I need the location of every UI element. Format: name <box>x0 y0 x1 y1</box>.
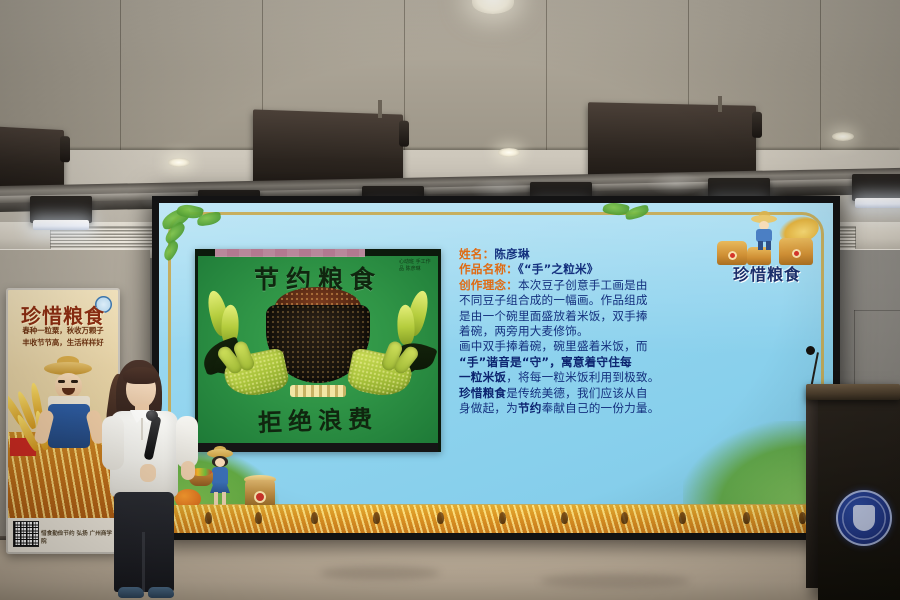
shoe <box>118 587 144 598</box>
hair-fringe <box>123 367 159 384</box>
lecture-hall-scene: 珍惜粮食 节约粮食 心动班 手工作品 陈彦琳 <box>0 0 900 600</box>
concept-line-9a: 身做起，为 <box>459 401 518 415</box>
concept-line-9c: 奉献自己的一份力量。 <box>542 401 660 415</box>
led-presentation-screen[interactable]: 珍惜粮食 节约粮食 心动班 手工作品 陈彦琳 <box>152 196 840 540</box>
concept-row: 创作理念：本次豆子创意手工画是由 <box>459 278 721 293</box>
concept-line-2: 不同豆子组合成的一幅画。作品组成 <box>459 293 721 308</box>
banner-headline: 珍惜粮食 <box>8 300 118 329</box>
concept-line-9-bold: 节约 <box>518 401 542 415</box>
leaf-decoration-icon <box>603 203 693 237</box>
farmer-icon <box>751 213 781 249</box>
hand <box>181 461 195 480</box>
work-value: 《“手”之粒米》 <box>518 262 599 276</box>
slide-logo: 珍惜粮食 <box>715 213 819 285</box>
work-row: 作品名称：《“手”之粒米》 <box>459 262 721 277</box>
name-value: 陈彦琳 <box>494 247 529 261</box>
recessed-downlight <box>168 158 190 167</box>
presenter <box>96 356 202 600</box>
cartoon-girl-farmer-icon <box>203 449 237 509</box>
microphone-capsule <box>806 346 815 355</box>
slide-content: 珍惜粮食 节约粮食 心动班 手工作品 陈彦琳 <box>159 203 833 533</box>
banner-subline-2: 丰收节节高，生活样样好 <box>12 338 114 348</box>
concept-line-6: “手”谐音是“守”，寓意着守住每 <box>459 355 721 370</box>
concept-label: 创作理念： <box>459 278 518 292</box>
slide-logo-text: 珍惜粮食 <box>715 261 819 285</box>
recessed-downlight <box>832 132 854 141</box>
concept-line-1: 本次豆子创意手工画是由 <box>518 278 648 292</box>
artwork-photo: 节约粮食 心动班 手工作品 陈彦琳 <box>195 249 441 452</box>
recessed-downlight <box>498 148 520 157</box>
shoe <box>148 587 174 598</box>
concept-line-9: 身做起，为节约奉献自己的一份力量。 <box>459 401 721 416</box>
qr-code-icon[interactable] <box>13 521 39 547</box>
concept-line-8-rest: 是传统美德，我们应该从自 <box>506 386 648 400</box>
concept-line-7-bold: 一粒米饭 <box>459 370 506 384</box>
tape-strip <box>215 249 365 257</box>
acoustic-ceiling-panel <box>0 0 900 160</box>
name-label: 姓名： <box>459 247 494 261</box>
hand-holding-mic <box>140 464 156 482</box>
concept-line-3: 是由一个碗里面盛放着米饭，双手捧 <box>459 309 721 324</box>
name-row: 姓名：陈彦琳 <box>459 247 721 262</box>
concept-line-7: 一粒米饭，将每一粒米饭利用到极致。 <box>459 370 721 385</box>
farmer-illustration-icon <box>42 362 98 466</box>
slide-text-block: 姓名：陈彦琳 作品名称：《“手”之粒米》 创作理念：本次豆子创意手工画是由 不同… <box>459 247 721 416</box>
concept-line-7-rest: ，将每一粒米饭利用到极致。 <box>506 370 659 384</box>
concept-line-5: 画中双手捧着碗，碗里盛着米饭，而 <box>459 339 721 354</box>
concept-line-4: 着碗，两旁用大麦修饰。 <box>459 324 721 339</box>
concept-line-8-bold: 珍惜粮食 <box>459 386 506 400</box>
podium-top-surface <box>806 384 900 400</box>
rice-grains-row <box>290 385 346 397</box>
artwork-corner-note: 心动班 手工作品 陈彦琳 <box>399 259 433 281</box>
concept-line-8: 珍惜粮食是传统美德，我们应该从自 <box>459 386 721 401</box>
wheat-field-strip <box>159 505 833 533</box>
banner-subline-1: 春种一粒粟，秋收万颗子 <box>12 326 114 336</box>
work-label: 作品名称： <box>459 262 518 276</box>
